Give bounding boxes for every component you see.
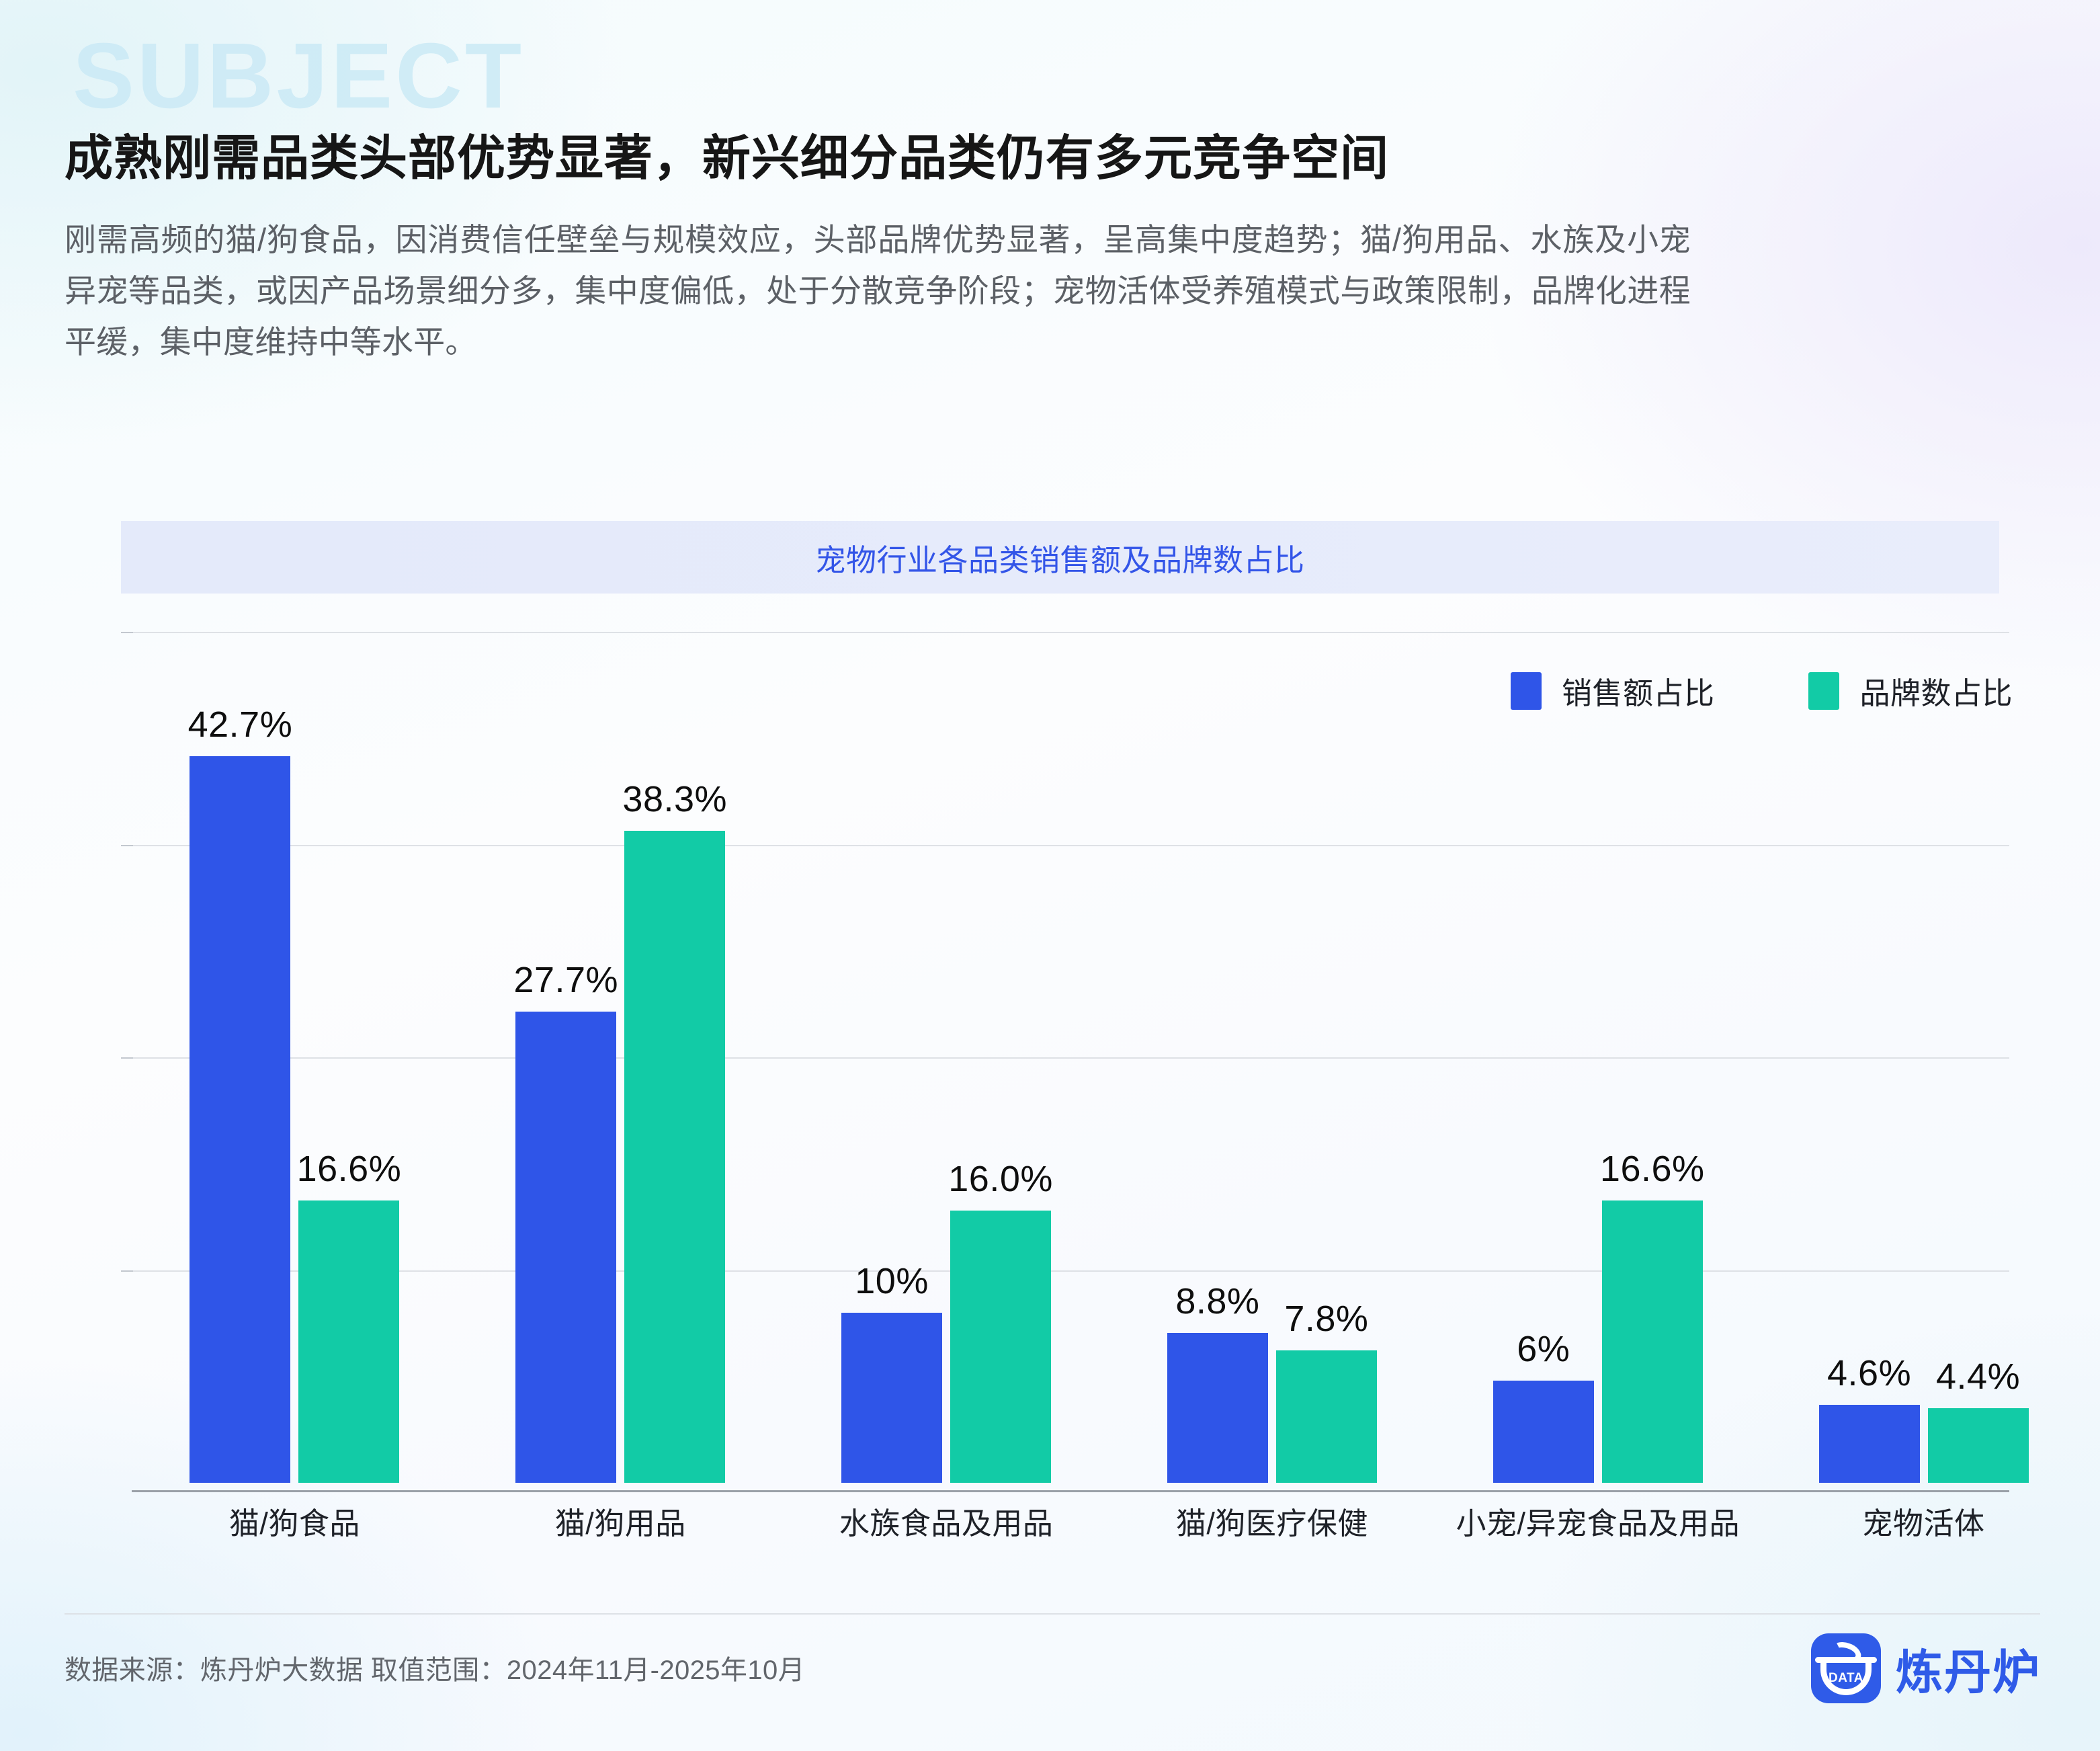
header: 成熟刚需品类头部优势显著，新兴细分品类仍有多元竞争空间 刚需高频的猫/狗食品，因… xyxy=(65,132,2040,368)
x-axis-label-3: 水族食品及用品 xyxy=(784,1499,1109,1543)
bar-value-label: 7.8% xyxy=(1284,1298,1368,1340)
bar-value-label: 16.6% xyxy=(1600,1148,1705,1190)
brand-logo: DATA 炼丹炉 xyxy=(1811,1633,2041,1703)
bar-fill xyxy=(298,1200,399,1483)
x-axis-label-4: 猫/狗医疗保健 xyxy=(1109,1499,1435,1543)
bar-fill xyxy=(1928,1408,2029,1483)
bar-value-label: 4.6% xyxy=(1827,1352,1911,1394)
bar-fill xyxy=(1167,1333,1268,1483)
brand-name: 炼丹炉 xyxy=(1896,1635,2041,1703)
bar-fill xyxy=(515,1012,616,1483)
bar-group: 6%16.6% xyxy=(1435,632,1761,1483)
bar-sales[interactable]: 8.8% xyxy=(1167,1333,1268,1483)
bar-brands[interactable]: 16.6% xyxy=(298,1200,399,1483)
bar-sales[interactable]: 27.7% xyxy=(515,1012,616,1483)
bar-fill xyxy=(1602,1200,1703,1483)
bar-fill xyxy=(1493,1381,1594,1483)
x-axis-label-1: 猫/狗食品 xyxy=(132,1499,458,1543)
footer-source-text: 数据来源：炼丹炉大数据 取值范围：2024年11月-2025年10月 xyxy=(65,1648,805,1687)
bar-value-label: 16.0% xyxy=(948,1158,1053,1200)
bar-fill xyxy=(950,1211,1051,1483)
bar-fill xyxy=(1819,1405,1920,1483)
page-description: 刚需高频的猫/狗食品，因消费信任壁垒与规模效应，头部品牌优势显著，呈高集中度趋势… xyxy=(65,214,1691,368)
bar-value-label: 16.6% xyxy=(297,1148,402,1190)
bar-value-label: 6% xyxy=(1517,1328,1570,1370)
bar-group: 10%16.0% xyxy=(784,632,1109,1483)
bar-sales[interactable]: 10% xyxy=(841,1313,942,1483)
x-axis-label-2: 猫/狗用品 xyxy=(458,1499,784,1543)
bar-fill xyxy=(624,831,725,1483)
chart-x-axis-labels: 猫/狗食品猫/狗用品水族食品及用品猫/狗医疗保健小宠/异宠食品及用品宠物活体 xyxy=(132,1499,2087,1543)
bar-group: 4.6%4.4% xyxy=(1761,632,2087,1483)
bar-group: 42.7%16.6% xyxy=(132,632,458,1483)
x-axis-line xyxy=(132,1490,2009,1492)
bar-value-label: 38.3% xyxy=(622,778,727,820)
watermark-subject: SUBJECT xyxy=(73,30,524,122)
bar-value-label: 27.7% xyxy=(513,959,618,1001)
bar-value-label: 4.4% xyxy=(1936,1356,2020,1397)
chart-bar-groups: 42.7%16.6%27.7%38.3%10%16.0%8.8%7.8%6%16… xyxy=(132,632,2087,1483)
bar-brands[interactable]: 16.0% xyxy=(950,1211,1051,1483)
bar-brands[interactable]: 7.8% xyxy=(1276,1350,1377,1483)
bar-brands[interactable]: 4.4% xyxy=(1928,1408,2029,1483)
chart-title-banner: 宠物行业各品类销售额及品牌数占比 xyxy=(121,521,1999,594)
brand-mark-text: DATA xyxy=(1829,1671,1863,1686)
x-axis-label-5: 小宠/异宠食品及用品 xyxy=(1435,1499,1761,1543)
bar-value-label: 42.7% xyxy=(188,704,293,745)
x-axis-label-6: 宠物活体 xyxy=(1761,1499,2087,1543)
bar-fill xyxy=(1276,1350,1377,1483)
cauldron-icon: DATA xyxy=(1811,1633,1881,1703)
bar-sales[interactable]: 42.7% xyxy=(190,756,290,1483)
bar-brands[interactable]: 38.3% xyxy=(624,831,725,1483)
bar-value-label: 8.8% xyxy=(1175,1280,1259,1322)
bar-value-label: 10% xyxy=(855,1260,929,1302)
bar-fill xyxy=(190,756,290,1483)
bar-brands[interactable]: 16.6% xyxy=(1602,1200,1703,1483)
bar-group: 8.8%7.8% xyxy=(1109,632,1435,1483)
bar-group: 27.7%38.3% xyxy=(458,632,784,1483)
chart-title: 宠物行业各品类销售额及品牌数占比 xyxy=(815,536,1304,579)
bar-fill xyxy=(841,1313,942,1483)
footer-divider xyxy=(65,1613,2040,1615)
page-title: 成熟刚需品类头部优势显著，新兴细分品类仍有多元竞争空间 xyxy=(65,132,2040,186)
bar-sales[interactable]: 6% xyxy=(1493,1381,1594,1483)
bar-sales[interactable]: 4.6% xyxy=(1819,1405,1920,1483)
